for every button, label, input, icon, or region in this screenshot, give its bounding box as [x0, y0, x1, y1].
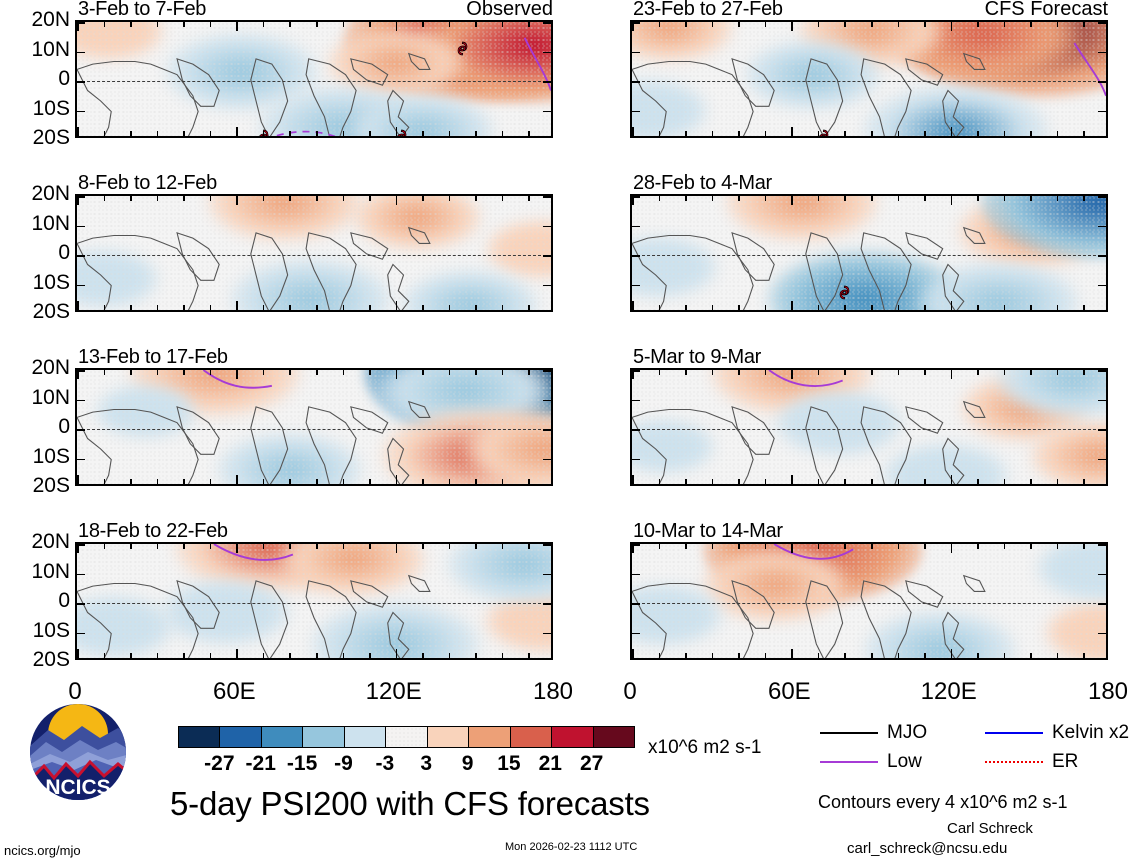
x-tick-label: 120E	[921, 680, 977, 704]
axis-tick	[475, 653, 477, 658]
axis-tick	[1098, 459, 1106, 461]
axis-tick	[844, 22, 846, 27]
axis-tick	[1098, 603, 1106, 605]
panel-title-fcst-4: 10-Mar to 14-Mar	[633, 521, 783, 541]
axis-tick	[236, 301, 238, 310]
axis-tick	[659, 196, 661, 201]
axis-tick	[924, 544, 926, 549]
map-panel-fcst-3	[630, 368, 1108, 486]
axis-tick	[316, 544, 318, 549]
axis-tick	[898, 653, 900, 658]
axis-tick	[818, 370, 820, 375]
axis-tick	[685, 479, 687, 484]
axis-tick	[1030, 544, 1032, 549]
axis-tick	[236, 196, 238, 205]
axis-tick	[712, 305, 714, 310]
y-tick-label: 0	[0, 68, 70, 89]
axis-tick	[1030, 305, 1032, 310]
y-tick-label: 10S	[0, 98, 70, 119]
axis-tick	[543, 196, 551, 198]
axis-tick	[738, 305, 740, 310]
map-panel-fcst-2	[630, 194, 1108, 312]
axis-tick	[632, 603, 640, 605]
y-tick-label: 0	[0, 242, 70, 263]
axis-tick	[263, 305, 265, 310]
axis-tick	[951, 475, 953, 484]
map-panel-obs-1	[75, 20, 553, 138]
axis-tick	[951, 370, 953, 379]
panel-title-obs-4: 18-Feb to 22-Feb	[78, 521, 228, 541]
axis-tick	[77, 226, 85, 228]
axis-tick	[369, 370, 371, 375]
panel-corner-label-fcst-1: CFS Forecast	[948, 0, 1108, 19]
axis-tick	[104, 479, 106, 484]
x-tick-label: 60E	[761, 680, 817, 704]
axis-tick	[844, 653, 846, 658]
axis-tick	[685, 22, 687, 27]
axis-tick	[236, 649, 238, 658]
axis-tick	[1083, 653, 1085, 658]
axis-tick	[130, 479, 132, 484]
axis-tick	[543, 255, 551, 257]
axis-tick	[263, 653, 265, 658]
axis-tick	[449, 305, 451, 310]
axis-tick	[738, 653, 740, 658]
axis-tick	[738, 544, 740, 549]
axis-tick	[659, 653, 661, 658]
axis-tick	[1057, 479, 1059, 484]
axis-tick	[316, 131, 318, 136]
axis-tick	[1098, 111, 1106, 113]
axis-tick	[632, 255, 640, 257]
axis-tick	[659, 479, 661, 484]
axis-tick	[543, 52, 551, 54]
axis-tick	[1057, 131, 1059, 136]
axis-tick	[210, 305, 212, 310]
colorbar-swatch	[511, 727, 552, 747]
axis-tick	[1098, 574, 1106, 576]
axis-tick	[659, 131, 661, 136]
axis-tick	[1057, 196, 1059, 201]
axis-tick	[543, 429, 551, 431]
axis-tick	[632, 400, 640, 402]
axis-tick	[659, 370, 661, 375]
axis-tick	[543, 459, 551, 461]
axis-tick	[263, 544, 265, 549]
axis-tick	[475, 370, 477, 375]
axis-tick	[685, 131, 687, 136]
axis-tick	[844, 196, 846, 201]
legend-label: MJO	[887, 723, 927, 742]
axis-tick	[685, 196, 687, 201]
axis-tick	[1098, 255, 1106, 257]
axis-tick	[236, 544, 238, 553]
axis-tick	[1030, 131, 1032, 136]
axis-tick	[685, 305, 687, 310]
y-tick-label: 0	[0, 590, 70, 611]
map-panel-obs-4	[75, 542, 553, 660]
axis-tick	[77, 574, 85, 576]
axis-tick	[343, 653, 345, 658]
axis-tick	[632, 22, 640, 24]
colorbar-swatch	[469, 727, 510, 747]
axis-tick	[528, 544, 530, 549]
axis-tick	[951, 22, 953, 31]
axis-tick	[183, 305, 185, 310]
axis-tick	[396, 544, 398, 553]
axis-tick	[738, 479, 740, 484]
axis-tick	[210, 370, 212, 375]
axis-tick	[685, 653, 687, 658]
y-tick-label: 20S	[0, 301, 70, 322]
axis-tick	[475, 479, 477, 484]
axis-tick	[685, 370, 687, 375]
axis-tick	[543, 574, 551, 576]
axis-tick	[818, 22, 820, 27]
axis-tick	[502, 370, 504, 375]
axis-tick	[924, 370, 926, 375]
axis-tick	[289, 544, 291, 549]
axis-tick	[898, 544, 900, 549]
axis-tick	[77, 301, 79, 310]
axis-tick	[130, 544, 132, 549]
axis-tick	[924, 305, 926, 310]
axis-tick	[449, 131, 451, 136]
logo-text: NCICS	[45, 776, 110, 799]
axis-tick	[475, 196, 477, 201]
axis-tick	[104, 544, 106, 549]
axis-tick	[316, 22, 318, 27]
axis-tick	[77, 52, 85, 54]
legend-line-swatch	[985, 732, 1043, 734]
axis-tick	[765, 653, 767, 658]
axis-tick	[632, 370, 640, 372]
axis-tick	[871, 131, 873, 136]
axis-tick	[977, 479, 979, 484]
axis-tick	[77, 81, 85, 83]
axis-tick	[77, 633, 85, 635]
x-tick-label: 180	[1080, 680, 1135, 704]
panel-title-obs-1: 3-Feb to 7-Feb	[78, 0, 206, 19]
axis-tick	[818, 196, 820, 201]
map-panel-fcst-1	[630, 20, 1108, 138]
legend-item-low: Low	[820, 752, 922, 771]
axis-tick	[1030, 22, 1032, 27]
axis-tick	[1030, 196, 1032, 201]
axis-tick	[844, 131, 846, 136]
axis-tick	[543, 285, 551, 287]
colorbar-swatch	[428, 727, 469, 747]
axis-tick	[951, 649, 953, 658]
legend-item-kelvin-x2: Kelvin x2	[985, 723, 1129, 742]
panel-title-fcst-3: 5-Mar to 9-Mar	[633, 347, 761, 367]
axis-tick	[1004, 22, 1006, 27]
y-tick-label: 10N	[0, 387, 70, 408]
axis-tick	[343, 479, 345, 484]
axis-tick	[977, 653, 979, 658]
axis-tick	[157, 196, 159, 201]
axis-tick	[289, 131, 291, 136]
axis-tick	[396, 370, 398, 379]
y-tick-label: 10N	[0, 561, 70, 582]
axis-tick	[449, 196, 451, 201]
axis-tick	[1004, 370, 1006, 375]
colorbar-units-label: x10^6 m2 s-1	[648, 738, 761, 757]
y-tick-label: 0	[0, 416, 70, 437]
axis-tick	[898, 131, 900, 136]
axis-tick	[977, 131, 979, 136]
axis-tick	[818, 544, 820, 549]
y-tick-label: 10S	[0, 446, 70, 467]
axis-tick	[210, 131, 212, 136]
axis-tick	[1057, 22, 1059, 27]
colorbar-swatch	[552, 727, 593, 747]
axis-tick	[316, 305, 318, 310]
contour-interval-note: Contours every 4 x10^6 m2 s-1	[818, 793, 1068, 811]
axis-tick	[210, 544, 212, 549]
site-url: ncics.org/mjo	[4, 844, 81, 857]
axis-tick	[1098, 81, 1106, 83]
axis-tick	[502, 305, 504, 310]
y-tick-label: 20S	[0, 649, 70, 670]
axis-tick	[157, 370, 159, 375]
axis-tick	[738, 370, 740, 375]
axis-tick	[316, 196, 318, 201]
axis-tick	[528, 479, 530, 484]
axis-tick	[396, 22, 398, 31]
axis-tick	[1083, 196, 1085, 201]
axis-tick	[659, 22, 661, 27]
axis-tick	[1004, 131, 1006, 136]
low-contour-overlay	[77, 544, 551, 658]
axis-tick	[157, 479, 159, 484]
map-panel-fcst-4	[630, 542, 1108, 660]
axis-tick	[343, 544, 345, 549]
y-tick-label: 20N	[0, 183, 70, 204]
axis-tick	[871, 479, 873, 484]
axis-tick	[343, 305, 345, 310]
axis-tick	[236, 22, 238, 31]
axis-tick	[1057, 653, 1059, 658]
axis-tick	[898, 22, 900, 27]
x-tick-label: 120E	[366, 680, 422, 704]
axis-tick	[77, 475, 79, 484]
axis-tick	[844, 305, 846, 310]
axis-tick	[632, 429, 640, 431]
axis-tick	[1098, 196, 1106, 198]
x-tick-label: 180	[525, 680, 581, 704]
axis-tick	[316, 479, 318, 484]
axis-tick	[1098, 544, 1106, 546]
y-tick-label: 10S	[0, 272, 70, 293]
axis-tick	[449, 544, 451, 549]
axis-tick	[316, 653, 318, 658]
low-contour-overlay	[77, 196, 551, 310]
axis-tick	[1057, 370, 1059, 375]
axis-tick	[791, 22, 793, 31]
panel-title-fcst-1: 23-Feb to 27-Feb	[633, 0, 783, 19]
axis-tick	[104, 305, 106, 310]
page-title: 5-day PSI200 with CFS forecasts	[170, 787, 650, 820]
colorbar-swatch	[594, 727, 634, 747]
axis-tick	[289, 305, 291, 310]
axis-tick	[1057, 544, 1059, 549]
axis-tick	[502, 131, 504, 136]
axis-tick	[1098, 226, 1106, 228]
axis-tick	[791, 544, 793, 553]
axis-tick	[183, 653, 185, 658]
axis-tick	[712, 196, 714, 201]
axis-tick	[157, 22, 159, 27]
axis-tick	[77, 603, 85, 605]
axis-tick	[712, 479, 714, 484]
axis-tick	[236, 127, 238, 136]
axis-tick	[738, 196, 740, 201]
axis-tick	[77, 196, 85, 198]
axis-tick	[130, 131, 132, 136]
axis-tick	[396, 649, 398, 658]
axis-tick	[791, 475, 793, 484]
axis-tick	[263, 22, 265, 27]
axis-tick	[632, 649, 634, 658]
axis-tick	[632, 226, 640, 228]
axis-tick	[528, 22, 530, 27]
axis-tick	[791, 127, 793, 136]
colorbar-swatch	[303, 727, 344, 747]
axis-tick	[977, 196, 979, 201]
axis-tick	[236, 475, 238, 484]
axis-tick	[871, 196, 873, 201]
axis-tick	[924, 196, 926, 201]
axis-tick	[77, 255, 85, 257]
axis-tick	[951, 127, 953, 136]
axis-tick	[632, 196, 640, 198]
axis-tick	[977, 544, 979, 549]
axis-tick	[1098, 370, 1106, 372]
axis-tick	[712, 653, 714, 658]
axis-tick	[951, 544, 953, 553]
axis-tick	[210, 196, 212, 201]
axis-tick	[738, 131, 740, 136]
axis-tick	[1083, 479, 1085, 484]
axis-tick	[475, 305, 477, 310]
axis-tick	[183, 22, 185, 27]
axis-tick	[343, 131, 345, 136]
axis-tick	[502, 196, 504, 201]
y-tick-label: 20N	[0, 9, 70, 30]
tropical-cyclone-icon	[839, 285, 850, 300]
legend-item-mjo: MJO	[820, 723, 927, 742]
axis-tick	[924, 479, 926, 484]
axis-tick	[1004, 479, 1006, 484]
axis-tick	[924, 653, 926, 658]
axis-tick	[1083, 370, 1085, 375]
axis-tick	[818, 479, 820, 484]
axis-tick	[183, 196, 185, 201]
axis-tick	[659, 305, 661, 310]
axis-tick	[104, 196, 106, 201]
axis-tick	[369, 653, 371, 658]
legend-item-er: ER	[985, 752, 1078, 771]
axis-tick	[77, 111, 85, 113]
colorbar-swatch	[262, 727, 303, 747]
axis-tick	[685, 544, 687, 549]
axis-tick	[343, 196, 345, 201]
axis-tick	[543, 370, 551, 372]
axis-tick	[632, 127, 634, 136]
panel-title-obs-2: 8-Feb to 12-Feb	[78, 173, 217, 193]
axis-tick	[1004, 305, 1006, 310]
axis-tick	[528, 305, 530, 310]
colorbar-tick-label: 27	[564, 753, 620, 774]
axis-tick	[543, 111, 551, 113]
axis-tick	[924, 131, 926, 136]
axis-tick	[818, 131, 820, 136]
axis-tick	[712, 370, 714, 375]
axis-tick	[77, 429, 85, 431]
axis-tick	[543, 400, 551, 402]
axis-tick	[632, 633, 640, 635]
y-tick-label: 20S	[0, 127, 70, 148]
axis-tick	[210, 22, 212, 27]
tropical-cyclone-icon	[818, 129, 829, 136]
axis-tick	[289, 196, 291, 201]
colorbar-swatch	[179, 727, 220, 747]
axis-tick	[369, 196, 371, 201]
y-tick-label: 10S	[0, 620, 70, 641]
map-panel-obs-3	[75, 368, 553, 486]
axis-tick	[871, 22, 873, 27]
axis-tick	[765, 370, 767, 375]
axis-tick	[396, 196, 398, 205]
axis-tick	[1083, 131, 1085, 136]
axis-tick	[263, 131, 265, 136]
axis-tick	[765, 131, 767, 136]
legend-label: ER	[1052, 752, 1078, 771]
colorbar-swatch	[386, 727, 427, 747]
axis-tick	[77, 370, 85, 372]
axis-tick	[924, 22, 926, 27]
axis-tick	[475, 22, 477, 27]
axis-tick	[289, 653, 291, 658]
axis-tick	[236, 370, 238, 379]
axis-tick	[104, 131, 106, 136]
axis-tick	[263, 196, 265, 201]
axis-tick	[130, 22, 132, 27]
author-email: carl_schreck@ncsu.edu	[847, 841, 1007, 856]
axis-tick	[104, 370, 106, 375]
axis-tick	[289, 22, 291, 27]
axis-tick	[130, 196, 132, 201]
axis-tick	[898, 305, 900, 310]
axis-tick	[1098, 429, 1106, 431]
y-tick-label: 20N	[0, 357, 70, 378]
axis-tick	[449, 479, 451, 484]
axis-tick	[422, 22, 424, 27]
axis-tick	[632, 81, 640, 83]
axis-tick	[951, 301, 953, 310]
axis-tick	[844, 544, 846, 549]
axis-tick	[632, 301, 634, 310]
axis-tick	[791, 370, 793, 379]
legend-label: Kelvin x2	[1052, 723, 1129, 742]
legend-line-swatch	[820, 732, 878, 734]
axis-tick	[1083, 22, 1085, 27]
panel-title-obs-3: 13-Feb to 17-Feb	[78, 347, 228, 367]
axis-tick	[791, 649, 793, 658]
low-contour-overlay	[632, 544, 1106, 658]
axis-tick	[183, 479, 185, 484]
